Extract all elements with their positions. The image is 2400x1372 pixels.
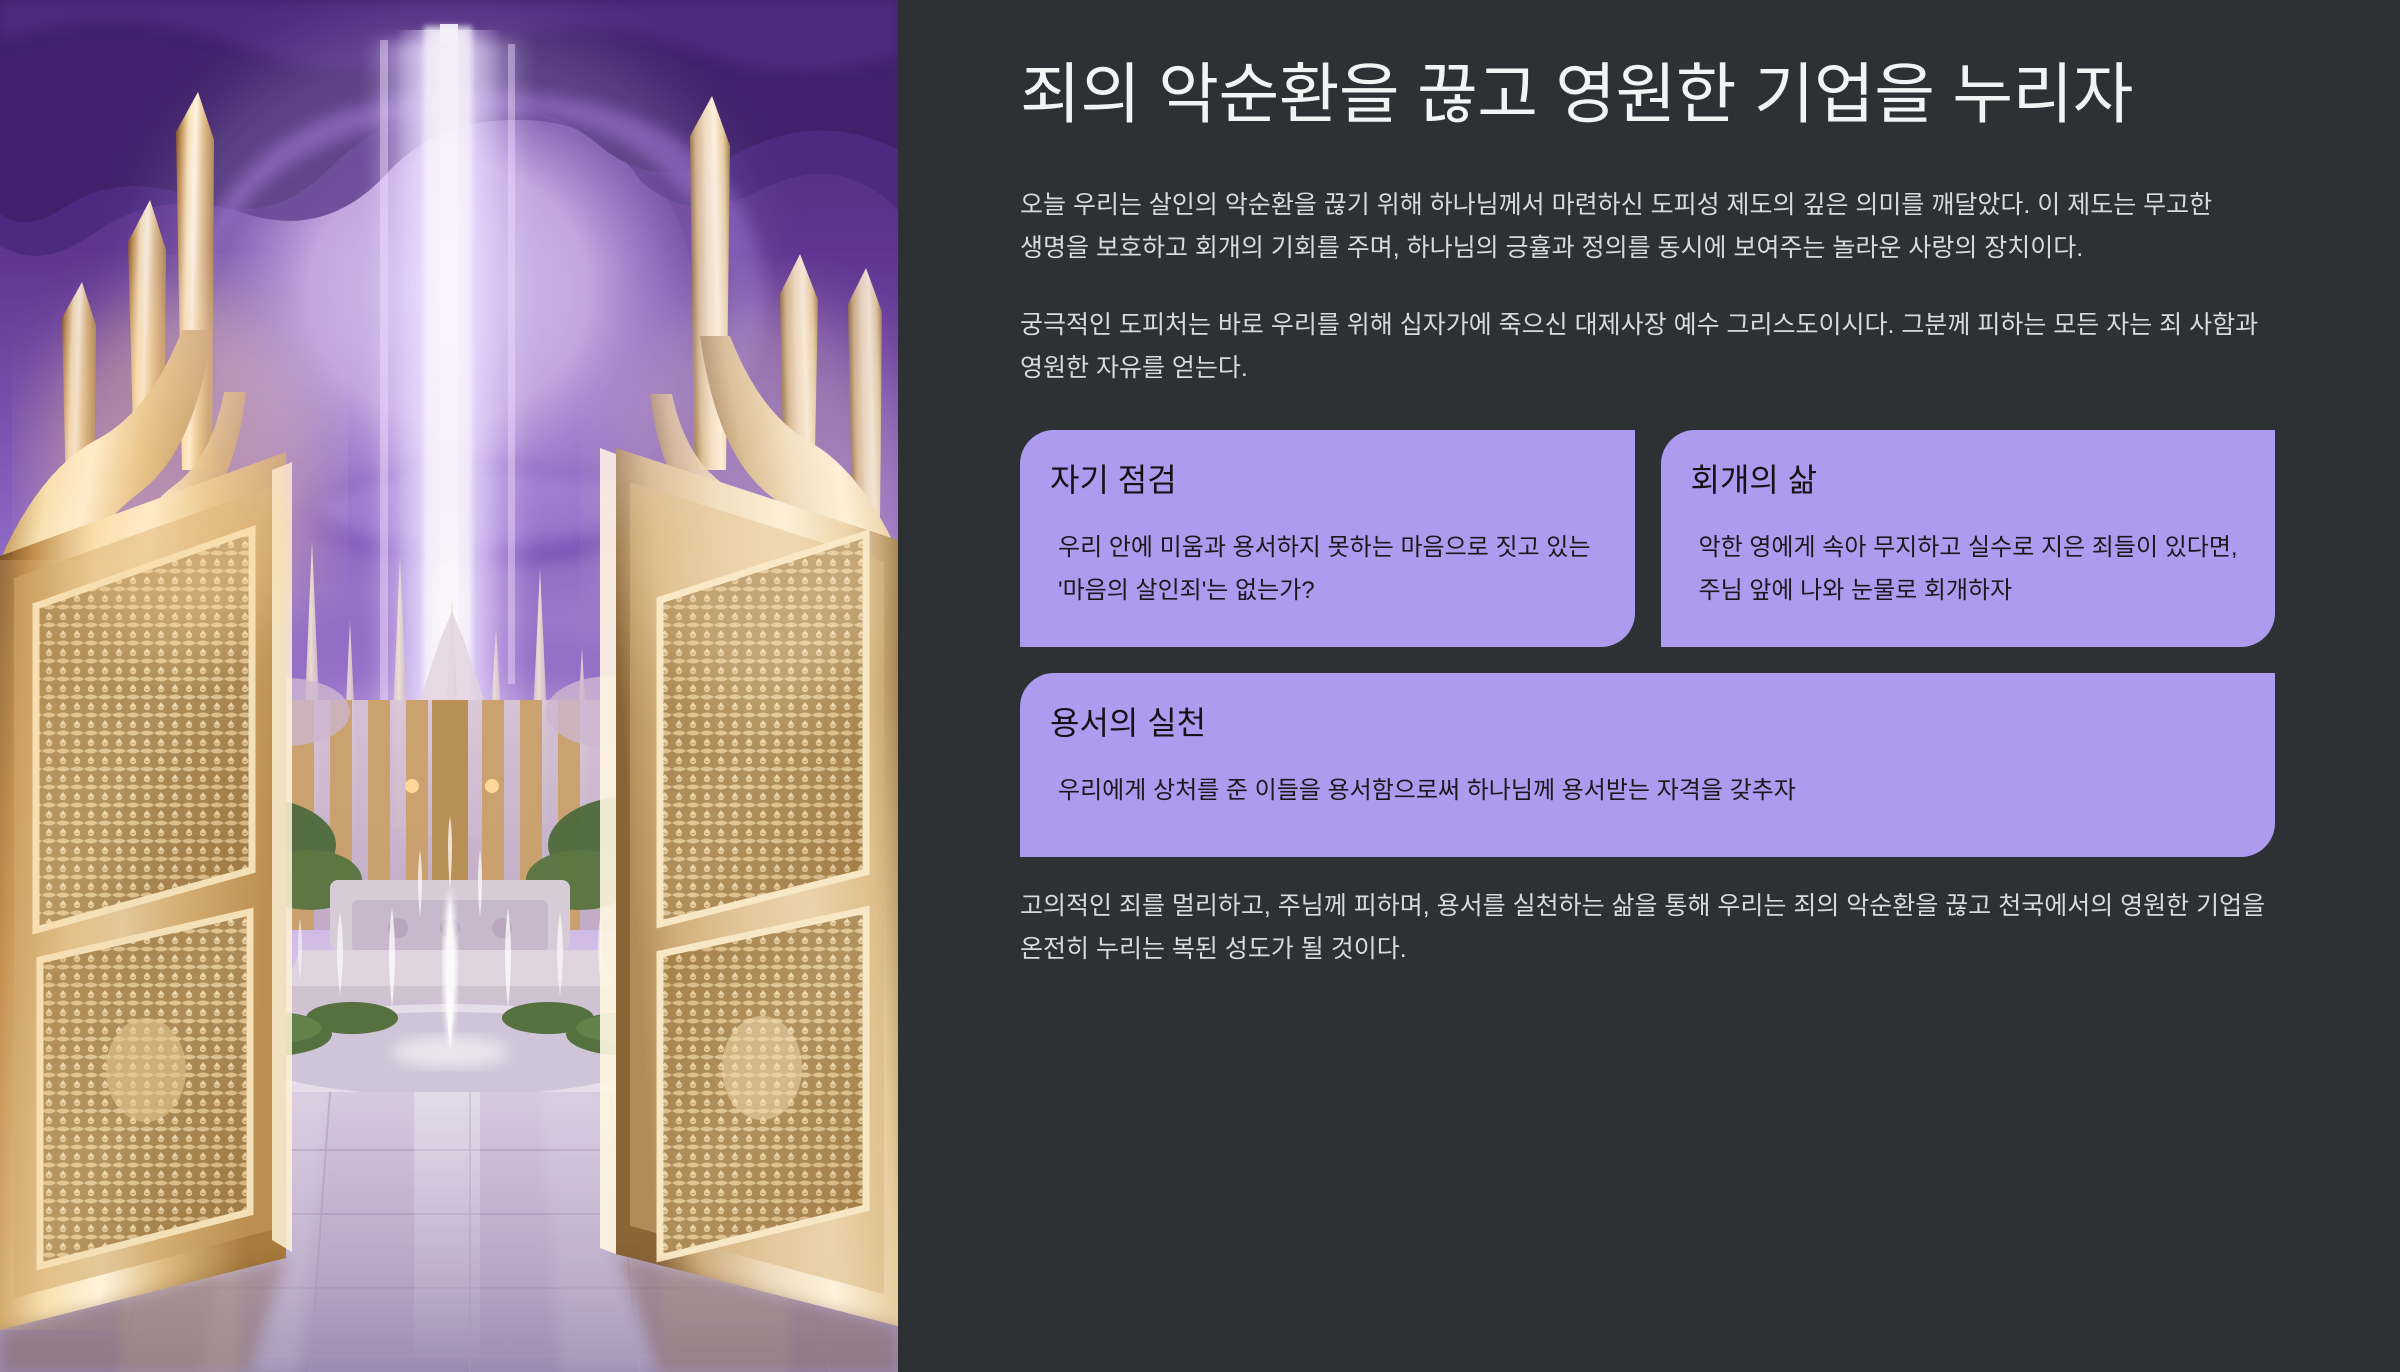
presentation-slide: 죄의 악순환을 끊고 영원한 기업을 누리자 오늘 우리는 살인의 악순환을 끊… — [0, 0, 2400, 1372]
card-practice-forgiveness[interactable]: 용서의 실천 우리에게 상처를 준 이들을 용서함으로써 하나님께 용서받는 자… — [1020, 673, 2275, 857]
card-repentant-life[interactable]: 회개의 삶 악한 영에게 속아 무지하고 실수로 지은 죄들이 있다면, 주님 … — [1661, 430, 2276, 647]
heavenly-gates-illustration — [0, 0, 898, 1372]
card-body: 우리 안에 미움과 용서하지 못하는 마음으로 짓고 있는 '마음의 살인죄'는… — [1050, 527, 1601, 612]
application-card-row: 자기 점검 우리 안에 미움과 용서하지 못하는 마음으로 짓고 있는 '마음의… — [1020, 430, 2275, 647]
intro-paragraph-1: 오늘 우리는 살인의 악순환을 끊기 위해 하나님께서 마련하신 도피성 제도의… — [1020, 184, 2275, 270]
page-title: 죄의 악순환을 끊고 영원한 기업을 누리자 — [1020, 52, 2275, 138]
card-title: 용서의 실천 — [1050, 703, 2241, 745]
card-body: 악한 영에게 속아 무지하고 실수로 지은 죄들이 있다면, 주님 앞에 나와 … — [1691, 527, 2242, 612]
card-self-examination[interactable]: 자기 점검 우리 안에 미움과 용서하지 못하는 마음으로 짓고 있는 '마음의… — [1020, 430, 1635, 647]
card-title: 자기 점검 — [1050, 460, 1601, 502]
content-panel: 죄의 악순환을 끊고 영원한 기업을 누리자 오늘 우리는 살인의 악순환을 끊… — [898, 0, 2400, 1372]
card-body: 우리에게 상처를 준 이들을 용서함으로써 하나님께 용서받는 자격을 갖추자 — [1050, 770, 2241, 813]
card-title: 회개의 삶 — [1691, 460, 2242, 502]
closing-paragraph: 고의적인 죄를 멀리하고, 주님께 피하며, 용서를 실천하는 삶을 통해 우리… — [1020, 885, 2275, 971]
intro-paragraph-2: 궁극적인 도피처는 바로 우리를 위해 십자가에 죽으신 대제사장 예수 그리스… — [1020, 304, 2275, 390]
